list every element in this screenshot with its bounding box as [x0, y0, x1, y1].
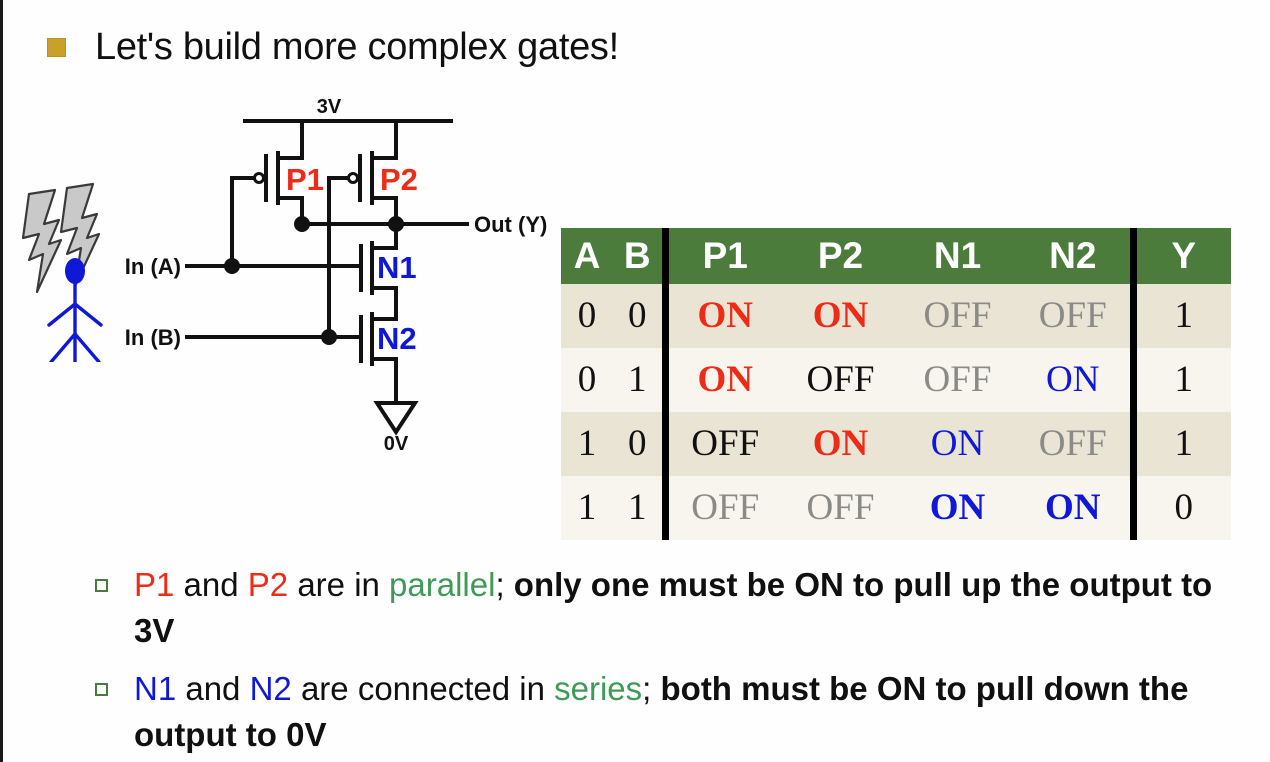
bullet-text-fragment-1: P1: [134, 566, 174, 603]
bullet-square-outline-icon: [95, 579, 108, 592]
cell-input-b: 0: [613, 284, 665, 348]
transistor-label-n2: N2: [377, 321, 417, 356]
bullet-square-icon: [47, 38, 66, 57]
cell-input-a: 0: [561, 284, 613, 348]
bullet-text-fragment-6: ;: [495, 566, 513, 603]
circuit-svg: P1 P2 N1 N2 3V 0V Out (Y) In (A) In (B): [99, 98, 569, 458]
junction-dot-output-right: [388, 216, 404, 232]
bullet-text: N1 and N2 are connected in series; both …: [134, 666, 1245, 758]
bullet-text-fragment-2: and: [174, 566, 247, 603]
table-header-n2: N2: [1016, 228, 1133, 284]
bullet-text: P1 and P2 are in parallel; only one must…: [134, 562, 1245, 654]
cell-state-p1: ON: [665, 348, 782, 412]
table-header-y: Y: [1133, 228, 1231, 284]
table-header-p2: P2: [782, 228, 899, 284]
truth-table: A B P1 P2 N1 N2 Y 00ONONOFFOFF101ONOFFOF…: [561, 228, 1231, 540]
bullet-text-fragment-5: series: [554, 670, 642, 707]
cell-state-n1: OFF: [899, 348, 1016, 412]
table-row: 00ONONOFFOFF1: [561, 284, 1231, 348]
cell-state-n1: ON: [899, 476, 1016, 540]
table-header-b: B: [613, 228, 665, 284]
cell-output-y: 1: [1133, 348, 1231, 412]
cell-state-n2: ON: [1016, 476, 1133, 540]
output-label: Out (Y): [474, 212, 547, 237]
cell-input-a: 0: [561, 348, 613, 412]
cell-input-b: 0: [613, 412, 665, 476]
slide-canvas: Let's build more complex gates!: [0, 0, 1270, 762]
cell-state-n2: OFF: [1016, 412, 1133, 476]
junction-dot-input-b: [321, 329, 337, 345]
junction-dot-input-a: [224, 258, 240, 274]
cell-input-a: 1: [561, 412, 613, 476]
page-title: Let's build more complex gates!: [95, 26, 619, 69]
explanation-bullet-list: P1 and P2 are in parallel; only one must…: [95, 562, 1245, 762]
bullet-text-fragment-3: N2: [250, 670, 292, 707]
bullet-item-1: P1 and P2 are in parallel; only one must…: [95, 562, 1245, 654]
slide-title-row: Let's build more complex gates!: [47, 26, 619, 69]
input-b-label: In (B): [125, 325, 181, 350]
cell-output-y: 0: [1133, 476, 1231, 540]
cmos-nand-circuit-diagram: P1 P2 N1 N2 3V 0V Out (Y) In (A) In (B): [99, 98, 569, 458]
cell-state-p1: OFF: [665, 412, 782, 476]
ground-symbol-icon: [377, 403, 415, 432]
table-header-p1: P1: [665, 228, 782, 284]
table-row: 10OFFONONOFF1: [561, 412, 1231, 476]
bullet-text-fragment-5: parallel: [389, 566, 495, 603]
supply-label: 3V: [317, 98, 342, 118]
bullet-item-2: N1 and N2 are connected in series; both …: [95, 666, 1245, 758]
lightning-bolt-icon-1: [23, 190, 61, 292]
cell-output-y: 1: [1133, 412, 1231, 476]
bullet-text-fragment-3: P2: [248, 566, 288, 603]
transistor-label-p2: P2: [380, 162, 418, 197]
stick-person-icon: [49, 258, 101, 362]
cell-state-n2: ON: [1016, 348, 1133, 412]
cell-input-a: 1: [561, 476, 613, 540]
cell-state-p2: ON: [782, 284, 899, 348]
bullet-text-fragment-2: and: [176, 670, 249, 707]
bullet-text-fragment-4: are connected in: [292, 670, 554, 707]
cell-state-p2: OFF: [782, 348, 899, 412]
cell-state-p1: OFF: [665, 476, 782, 540]
cell-input-b: 1: [613, 348, 665, 412]
cell-state-n2: OFF: [1016, 284, 1133, 348]
table-row: 11OFFOFFONON0: [561, 476, 1231, 540]
cell-output-y: 1: [1133, 284, 1231, 348]
transistor-label-p1: P1: [286, 162, 324, 197]
cell-state-n1: ON: [899, 412, 1016, 476]
cell-input-b: 1: [613, 476, 665, 540]
cell-state-p2: OFF: [782, 476, 899, 540]
bullet-text-fragment-4: are in: [288, 566, 389, 603]
junction-dot-output-left: [294, 216, 310, 232]
bullet-text-fragment-1: N1: [134, 670, 176, 707]
cell-state-p2: ON: [782, 412, 899, 476]
table-header-row: A B P1 P2 N1 N2 Y: [561, 228, 1231, 284]
table-row: 01ONOFFOFFON1: [561, 348, 1231, 412]
transistor-label-n1: N1: [377, 250, 417, 285]
cell-state-n1: OFF: [899, 284, 1016, 348]
ground-label: 0V: [384, 433, 409, 455]
table-header-n1: N1: [899, 228, 1016, 284]
input-a-label: In (A): [125, 254, 181, 279]
table-body: 00ONONOFFOFF101ONOFFOFFON110OFFONONOFF11…: [561, 284, 1231, 540]
table-header-a: A: [561, 228, 613, 284]
bullet-square-outline-icon: [95, 683, 108, 696]
bullet-text-fragment-6: ;: [642, 670, 660, 707]
cell-state-p1: ON: [665, 284, 782, 348]
